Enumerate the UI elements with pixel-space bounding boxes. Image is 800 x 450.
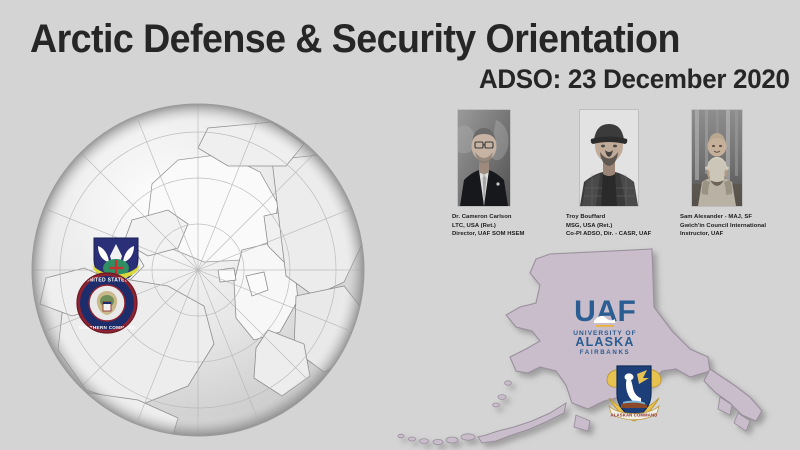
bio-line: Instructor, UAF [680,230,792,239]
uaf-wordmark: UAF [574,295,636,328]
bio-line: Dr. Cameron Carlson [452,213,564,222]
bio-line: Co-PI ADSO, Dir. - CASR, UAF [566,230,678,239]
presenter-bio-carlson: Dr. Cameron Carlson LTC, USA (Ret.) Dire… [452,213,564,239]
arctic-globe-graphic [28,100,368,440]
alaskan-command-seal-icon: ALASKAN COMMAND [603,358,665,426]
bio-line: Director, UAF SOM HSEM [452,230,564,239]
bio-line: MSG, USA (Ret.) [566,222,678,231]
svg-text:ALASKAN COMMAND: ALASKAN COMMAND [611,413,658,418]
presenter-photo-bouffard [580,110,638,206]
svg-text:UNITED STATES: UNITED STATES [86,278,129,284]
bio-line: Troy Bouffard [566,213,678,222]
presenter-photo-alexander [692,110,742,206]
presenter-alexander: Sam Alexander - MAJ, SF Gwich'in Council… [680,110,792,239]
presenter-bio-bouffard: Troy Bouffard MSG, USA (Ret.) Co-PI ADSO… [566,213,678,239]
uaf-logo: UAF UNIVERSITY OF ALASKA FAIRBANKS [566,295,644,357]
bio-line: Gwich'in Council International [680,222,792,231]
presenter-bio-alexander: Sam Alexander - MAJ, SF Gwich'in Council… [680,213,792,239]
svg-text:ALASKA: ALASKA [575,335,634,349]
bio-line: LTC, USA (Ret.) [452,222,564,231]
northcom-seal-icon: UNITED STATES NORTHERN COMMAND [76,272,138,334]
presenter-carlson: Dr. Cameron Carlson LTC, USA (Ret.) Dire… [452,110,564,239]
page-subtitle: ADSO: 23 December 2020 [479,64,790,95]
presenter-bouffard: Troy Bouffard MSG, USA (Ret.) Co-PI ADSO… [566,110,678,239]
page-title: Arctic Defense & Security Orientation [30,16,744,62]
svg-text:FAIRBANKS: FAIRBANKS [580,349,631,356]
bio-line: Sam Alexander - MAJ, SF [680,213,792,222]
presenter-photo-carlson [458,110,510,206]
slide-canvas: Arctic Defense & Security Orientation AD… [0,0,800,450]
presenter-list: Dr. Cameron Carlson LTC, USA (Ret.) Dire… [452,110,800,255]
